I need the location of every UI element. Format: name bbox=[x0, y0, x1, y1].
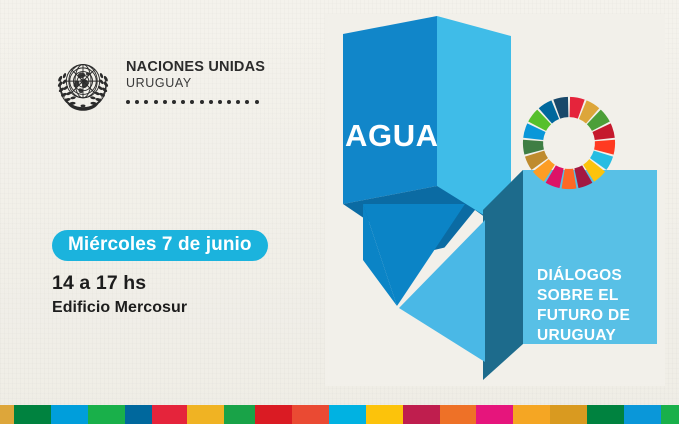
color-strip-segment bbox=[152, 405, 188, 424]
cube-label-line-1: DIÁLOGOS bbox=[537, 266, 630, 286]
divider-dot bbox=[209, 100, 213, 104]
color-strip-segment bbox=[440, 405, 477, 424]
divider-dot bbox=[144, 100, 148, 104]
color-strip-segment bbox=[329, 405, 366, 424]
cube-label: DIÁLOGOS SOBRE EL FUTURO DE URUGUAY bbox=[537, 266, 630, 347]
divider-dot bbox=[126, 100, 130, 104]
color-strip-segment bbox=[14, 405, 50, 424]
divider-dot bbox=[227, 100, 231, 104]
color-strip-segment bbox=[661, 405, 679, 424]
divider-dot bbox=[135, 100, 139, 104]
poster-canvas: NACIONES UNIDAS URUGUAY Miércoles 7 de j… bbox=[0, 0, 679, 424]
sdg-color-wheel-icon bbox=[521, 95, 617, 191]
color-strip-segment bbox=[403, 405, 440, 424]
divider-dot bbox=[200, 100, 204, 104]
color-strip-segment bbox=[125, 405, 152, 424]
divider-dot bbox=[236, 100, 240, 104]
un-branding-block: NACIONES UNIDAS URUGUAY bbox=[52, 54, 265, 112]
un-wordmark: NACIONES UNIDAS URUGUAY bbox=[126, 54, 265, 104]
divider-dot bbox=[218, 100, 222, 104]
organization-name: NACIONES UNIDAS bbox=[126, 60, 265, 75]
color-strip-segment bbox=[624, 405, 661, 424]
divider-dot bbox=[190, 100, 194, 104]
divider-dot bbox=[172, 100, 176, 104]
color-strip-segment bbox=[187, 405, 224, 424]
agua-label: AGUA bbox=[345, 118, 439, 154]
event-time: 14 a 17 hs bbox=[52, 272, 268, 294]
upper-box-front-face bbox=[343, 16, 437, 204]
sdg-color-strip bbox=[0, 405, 679, 424]
color-strip-segment bbox=[255, 405, 291, 424]
color-strip-segment bbox=[0, 405, 14, 424]
divider-dot bbox=[255, 100, 259, 104]
color-strip-segment bbox=[51, 405, 88, 424]
color-strip-segment bbox=[476, 405, 513, 424]
united-nations-emblem-icon bbox=[52, 54, 114, 112]
cube-label-line-4: URUGUAY bbox=[537, 326, 630, 346]
divider-dot bbox=[181, 100, 185, 104]
dotted-divider bbox=[126, 100, 265, 104]
cube-label-line-3: FUTURO DE bbox=[537, 306, 630, 326]
event-date-badge: Miércoles 7 de junio bbox=[52, 230, 268, 261]
divider-dot bbox=[163, 100, 167, 104]
color-strip-segment bbox=[550, 405, 587, 424]
cube-label-line-2: SOBRE EL bbox=[537, 286, 630, 306]
divider-dot bbox=[154, 100, 158, 104]
color-strip-segment bbox=[587, 405, 624, 424]
sdg-wheel-segment bbox=[562, 169, 577, 189]
color-strip-segment bbox=[224, 405, 255, 424]
divider-dot bbox=[245, 100, 249, 104]
color-strip-segment bbox=[88, 405, 125, 424]
event-details: Miércoles 7 de junio 14 a 17 hs Edificio… bbox=[52, 230, 268, 317]
color-strip-segment bbox=[513, 405, 550, 424]
event-venue: Edificio Mercosur bbox=[52, 298, 268, 317]
color-strip-segment bbox=[292, 405, 329, 424]
country-name: URUGUAY bbox=[126, 76, 265, 91]
color-strip-segment bbox=[366, 405, 403, 424]
